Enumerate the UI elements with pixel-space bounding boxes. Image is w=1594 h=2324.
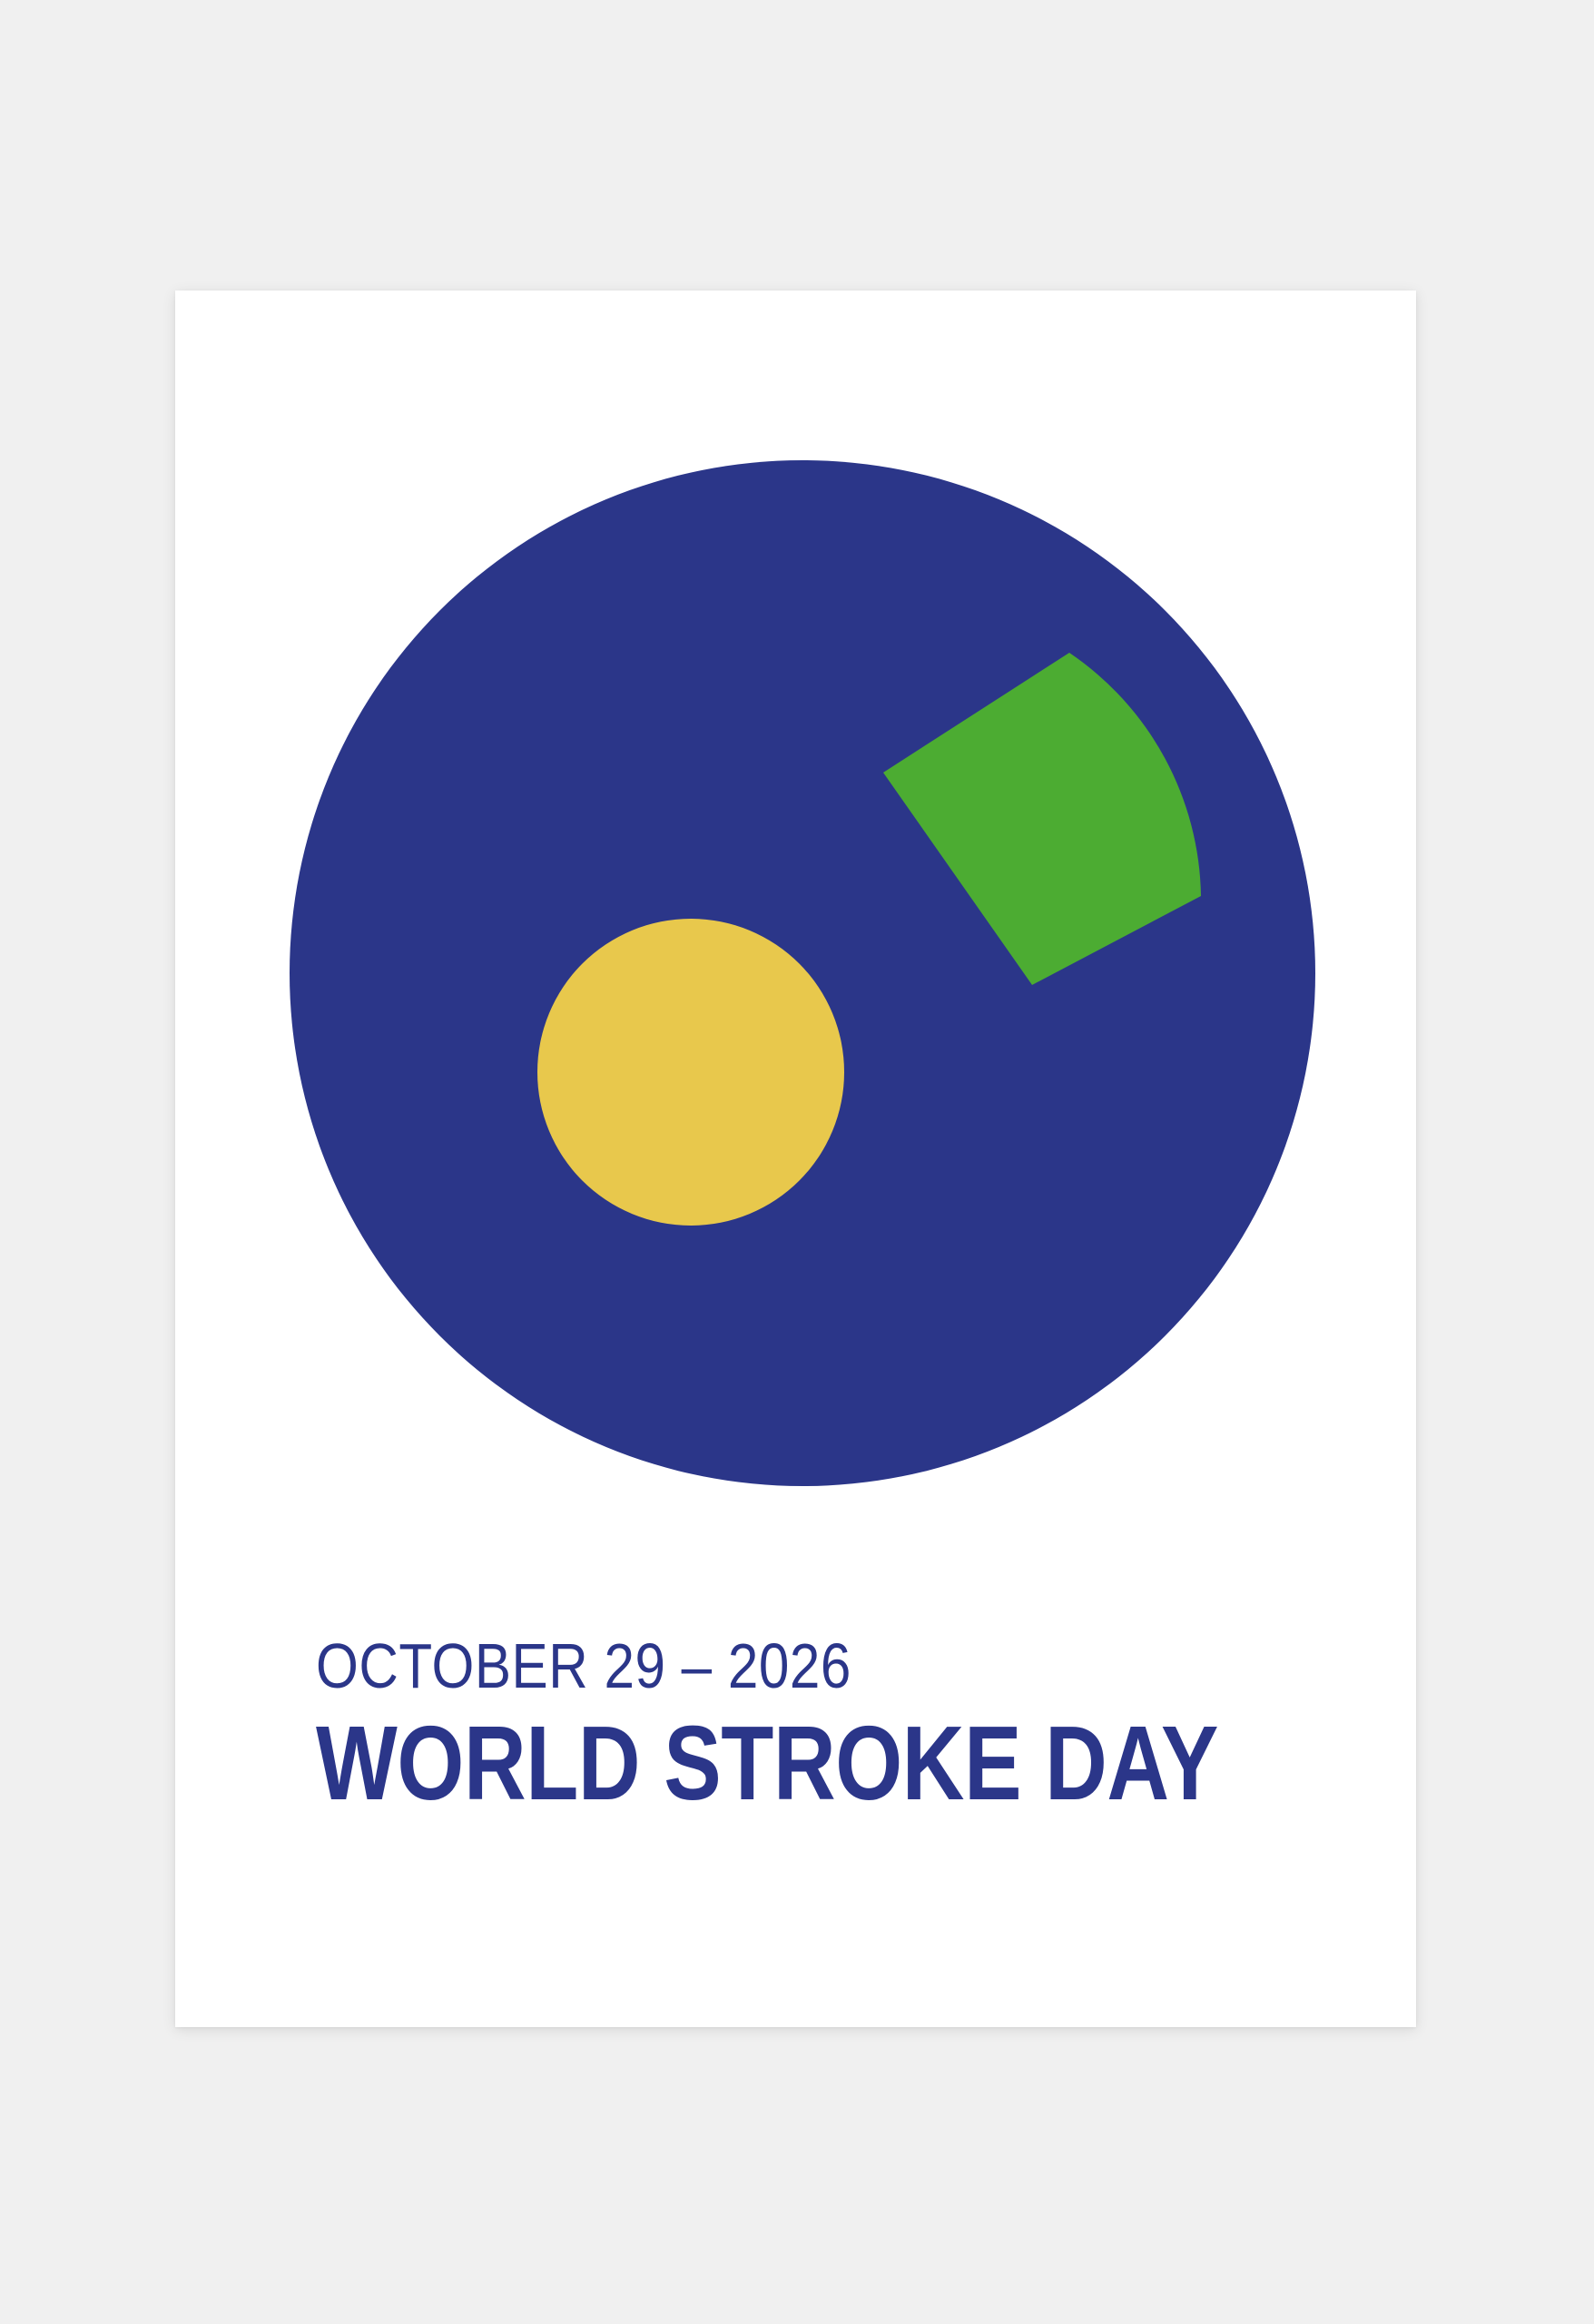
- page-background: OCTOBER 29 – 2026 WORLD STROKE DAY: [0, 0, 1594, 2324]
- yellow-disc-shape: [537, 919, 844, 1226]
- poster-sheet: OCTOBER 29 – 2026 WORLD STROKE DAY: [175, 290, 1416, 2027]
- event-date: OCTOBER 29 – 2026: [316, 1634, 1190, 1698]
- page-title: WORLD STROKE DAY: [316, 1710, 1149, 1816]
- poster-text-block: OCTOBER 29 – 2026 WORLD STROKE DAY: [316, 1634, 1333, 1816]
